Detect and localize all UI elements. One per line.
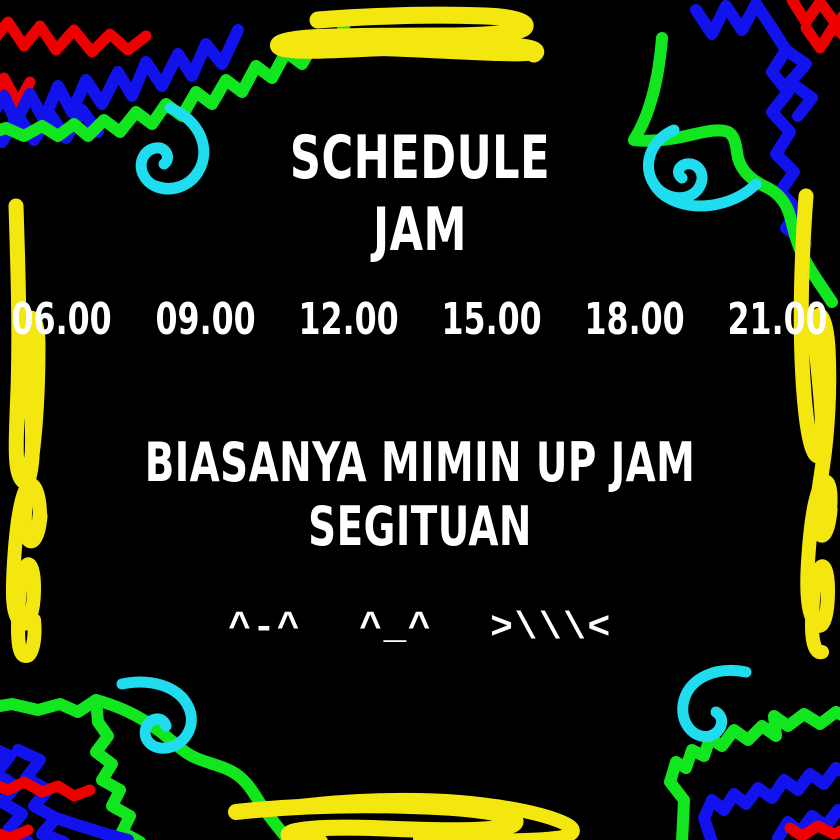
message-block: BIASANYA MIMIN UP JAM SEGITUAN	[0, 436, 840, 554]
title-line-schedule: SCHEDULE	[84, 128, 756, 188]
schedule-time-item: 18.00	[578, 298, 693, 342]
schedule-time-item: 21.00	[721, 298, 836, 342]
schedule-time-item: 12.00	[291, 298, 406, 342]
schedule-time-item: 06.00	[5, 298, 120, 342]
schedule-time-item: 09.00	[148, 298, 263, 342]
schedule-times-row: 06.00 09.00 12.00 15.00 18.00 21.00	[0, 298, 840, 342]
schedule-time-item: 15.00	[434, 298, 549, 342]
emoticon-happy-2: ^_^	[359, 610, 432, 648]
emoticon-happy-1: ^-^	[228, 610, 301, 648]
poster-canvas: SCHEDULE JAM 06.00 09.00 12.00 15.00 18.…	[0, 0, 840, 840]
message-line-1: BIASANYA MIMIN UP JAM	[84, 436, 756, 490]
title-line-jam: JAM	[84, 200, 756, 260]
emoticon-shy: >\\\<	[490, 610, 612, 648]
emoticon-row: ^-^ ^_^ >\\\<	[0, 610, 840, 648]
content-layer: SCHEDULE JAM 06.00 09.00 12.00 15.00 18.…	[0, 0, 840, 840]
message-line-2: SEGITUAN	[84, 500, 756, 554]
page-title: SCHEDULE JAM	[0, 128, 840, 260]
